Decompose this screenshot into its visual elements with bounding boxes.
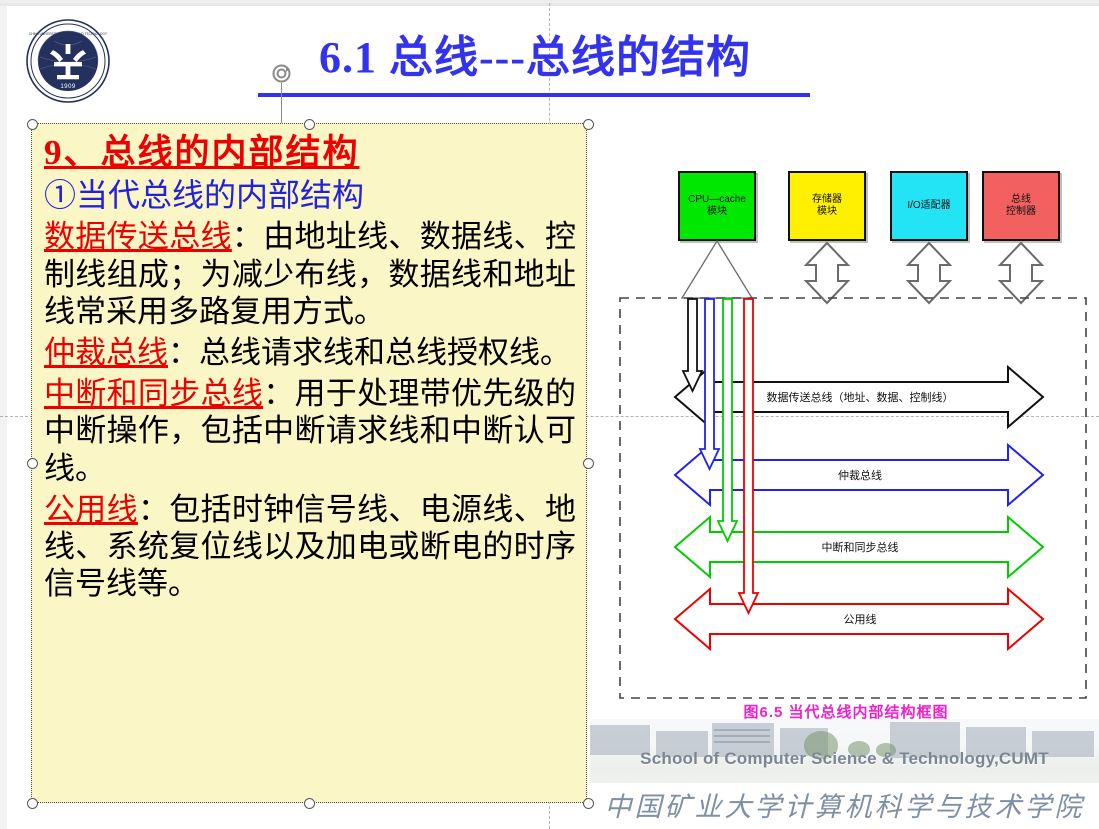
term-common-line: 公用线 <box>44 492 138 527</box>
resize-handle-top-center[interactable] <box>304 119 315 130</box>
footer-window-row <box>714 735 770 737</box>
bus-label-data-transfer: 数据传送总线（地址、数据、控制线） <box>710 389 1010 405</box>
title-underline <box>258 93 810 97</box>
resize-handle-middle-right[interactable] <box>583 458 594 469</box>
diagram-vector-layer <box>600 153 1092 713</box>
rotate-icon[interactable] <box>271 63 292 84</box>
module-connector-arrows <box>806 243 1042 303</box>
tap-arrow-data-transfer <box>683 299 702 391</box>
footer-window-row <box>714 741 770 743</box>
content-subheading: ①当代总线的内部结构 <box>44 176 576 214</box>
bus-label-interrupt-sync: 中断和同步总线 <box>710 539 1010 555</box>
rotation-handle-stem <box>281 83 282 123</box>
page-title: 6.1 总线---总线的结构 <box>250 35 820 81</box>
tap-arrow-interrupt-sync <box>718 299 737 541</box>
resize-handle-top-right[interactable] <box>583 119 594 130</box>
term-data-transfer-bus: 数据传送总线 <box>44 219 232 254</box>
body-1: 总线请求线和总线授权线。 <box>199 335 571 370</box>
bullet-common-line: 公用线：包括时钟信号线、电源线、地线、系统复位线以及加电或断电的时序信号线等。 <box>44 491 576 603</box>
canvas-left-edge <box>0 6 7 829</box>
bus-structure-diagram: CPU—cache 模块 存储器 模块 I/O适配器 总线 控制器 <box>600 153 1092 713</box>
content-textbox[interactable]: 9、总线的内部结构 ①当代总线的内部结构 数据传送总线：由地址线、数据线、控制线… <box>31 123 587 803</box>
resize-handle-bottom-center[interactable] <box>304 798 315 809</box>
footer-campus-banner: School of Computer Science & Technology,… <box>590 719 1099 783</box>
bullet-interrupt-sync-bus: 中断和同步总线：用于处理带优先级的中断操作，包括中断请求线和中断认可线。 <box>44 375 576 487</box>
slide-title-block: 6.1 总线---总线的结构 <box>250 35 820 81</box>
content-heading: 9、总线的内部结构 <box>44 132 576 174</box>
sep-2: ： <box>263 376 294 411</box>
footer-english-text: School of Computer Science & Technology,… <box>590 749 1099 769</box>
bus-label-arbitration: 仲裁总线 <box>710 467 1010 483</box>
sep-3: ： <box>138 492 169 527</box>
sep-1: ： <box>168 335 199 370</box>
footer-chinese-text: 中国矿业大学计算机科学与技术学院 <box>590 785 1099 824</box>
sep-0: ： <box>232 219 263 254</box>
slide-canvas: 1909 CHINA UNIVERSITY OF MINING AND TECH… <box>0 0 1099 826</box>
resize-handle-bottom-right[interactable] <box>583 798 594 809</box>
cumt-seal-logo: 1909 CHINA UNIVERSITY OF MINING AND TECH… <box>24 17 112 105</box>
fanout-triangle <box>682 241 752 298</box>
bus-label-common-line: 公用线 <box>710 611 1010 627</box>
resize-handle-middle-left[interactable] <box>27 458 38 469</box>
svg-text:CHINA UNIVERSITY OF MINING AND: CHINA UNIVERSITY OF MINING AND TECHNOLOG… <box>29 32 108 36</box>
bullet-data-transfer-bus: 数据传送总线：由地址线、数据线、控制线组成；为减少布线，数据线和地址线常采用多路… <box>44 218 576 330</box>
logo-year: 1909 <box>60 83 76 90</box>
term-arbitration-bus: 仲裁总线 <box>44 335 168 370</box>
resize-handle-top-left[interactable] <box>27 119 38 130</box>
resize-handle-bottom-left[interactable] <box>27 798 38 809</box>
tap-arrow-common-line <box>739 299 758 613</box>
term-interrupt-sync-bus: 中断和同步总线 <box>44 376 263 411</box>
bullet-arbitration-bus: 仲裁总线：总线请求线和总线授权线。 <box>44 334 576 371</box>
footer-window-row <box>714 729 770 731</box>
